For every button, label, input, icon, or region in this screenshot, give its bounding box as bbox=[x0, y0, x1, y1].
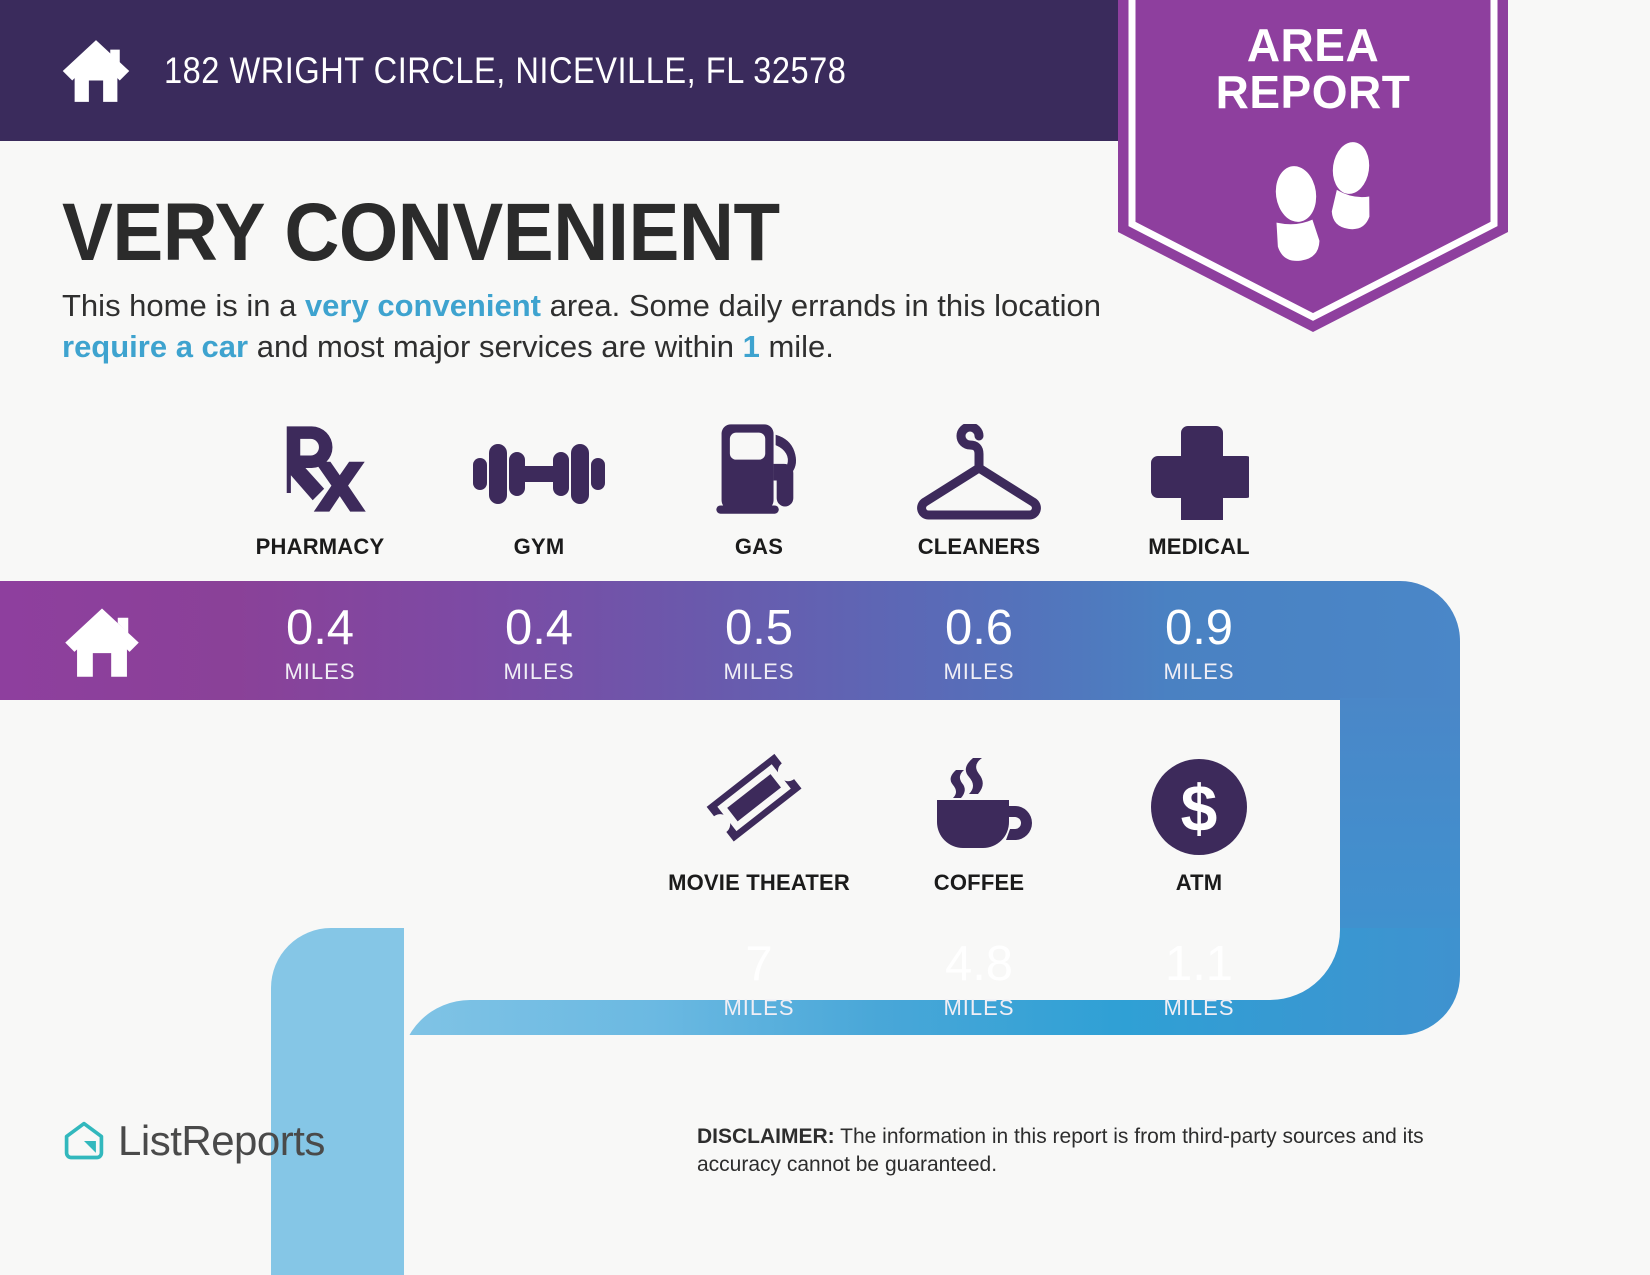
poi-coffee[interactable]: COFFEE bbox=[870, 760, 1088, 896]
svg-text:$: $ bbox=[1181, 771, 1218, 845]
coffee-icon bbox=[870, 760, 1088, 856]
poi-movie-theater[interactable]: MOVIE THEATER bbox=[650, 760, 868, 896]
row1-bar bbox=[0, 581, 1460, 700]
logo-text: ListReports bbox=[118, 1117, 325, 1165]
badge-shape bbox=[1118, 0, 1508, 332]
poi-atm[interactable]: $ ATM bbox=[1090, 760, 1308, 896]
ticket-icon bbox=[650, 760, 868, 856]
disclaimer: DISCLAIMER: The information in this repo… bbox=[697, 1123, 1507, 1180]
poi-label: MOVIE THEATER bbox=[650, 870, 868, 896]
listreports-logo[interactable]: ListReports bbox=[62, 1117, 325, 1165]
path-left-tail-fill bbox=[271, 928, 400, 1275]
listreports-house-icon bbox=[62, 1119, 106, 1163]
area-report-badge: AREA REPORT bbox=[1118, 0, 1508, 332]
disclaimer-label: DISCLAIMER: bbox=[697, 1125, 835, 1148]
path-left-tail-edge bbox=[400, 928, 404, 1275]
dollar-circle-icon: $ bbox=[1090, 760, 1308, 856]
poi-label: ATM bbox=[1090, 870, 1308, 896]
house-icon bbox=[60, 598, 144, 682]
poi-label: COFFEE bbox=[870, 870, 1088, 896]
path-right-connector bbox=[1340, 698, 1460, 948]
